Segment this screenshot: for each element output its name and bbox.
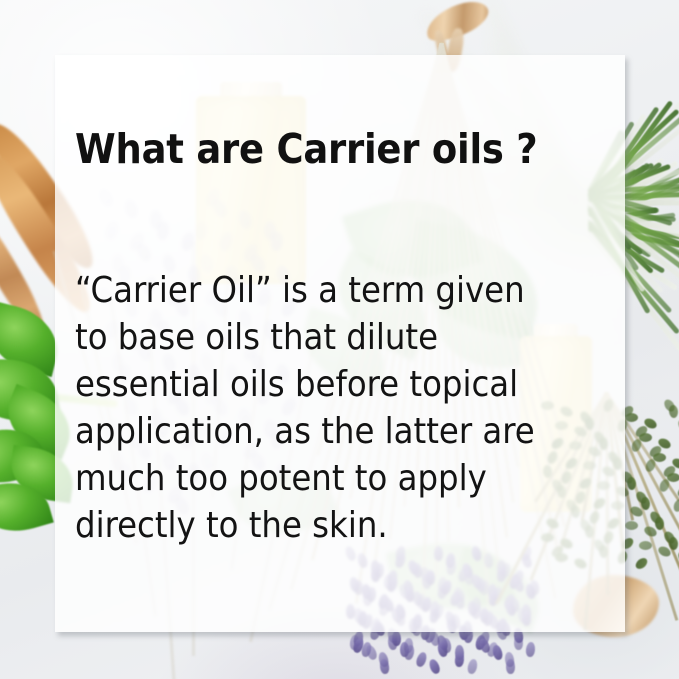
body-line: “Carrier Oil” is a term given [75,267,611,314]
body-paragraph: “Carrier Oil” is a term given to base oi… [75,267,611,549]
body-line: essential oils before topical [75,361,611,408]
body-line: application, as the latter are [75,408,611,455]
body-line: much too potent to apply [75,455,611,502]
body-line: directly to the skin. [75,502,611,549]
content-panel: What are Carrier oils ? “Carrier Oil” is… [55,55,625,632]
page-title: What are Carrier oils ? [75,128,538,171]
body-line: to base oils that dilute [75,314,611,361]
infographic-canvas: What are Carrier oils ? “Carrier Oil” is… [0,0,679,679]
